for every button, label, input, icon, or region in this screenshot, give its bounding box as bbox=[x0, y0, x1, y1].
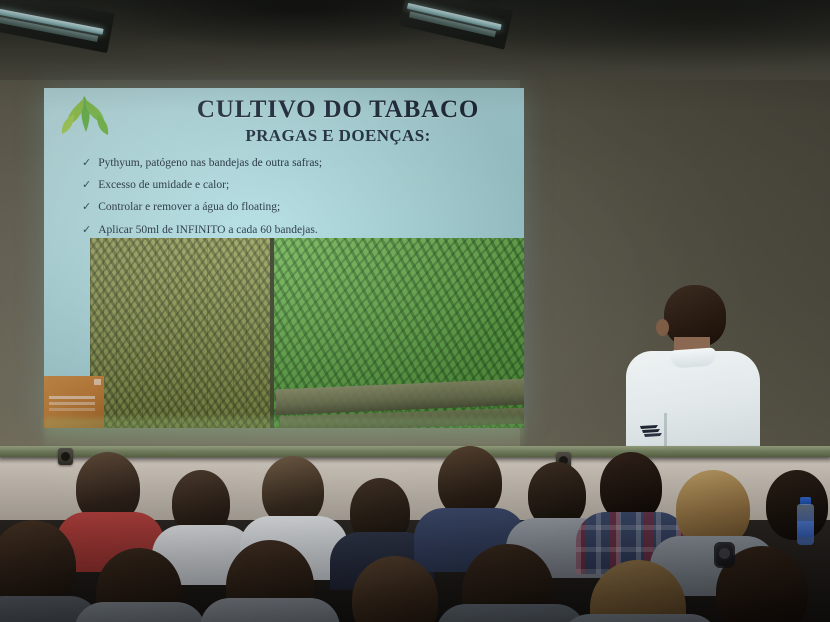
student-body bbox=[74, 602, 206, 622]
student-body bbox=[436, 604, 586, 622]
water-bottle bbox=[797, 497, 814, 545]
bottle-label bbox=[797, 521, 814, 537]
photo-shadow-patch bbox=[522, 298, 524, 324]
projected-slide: CULTIVO DO TABACO PRAGAS E DOENÇAS: ✓ Py… bbox=[44, 88, 524, 428]
student-body bbox=[560, 614, 720, 622]
photo-divider bbox=[270, 238, 274, 428]
student-body bbox=[200, 598, 340, 622]
wristwatch bbox=[716, 544, 733, 566]
seedling-tray-diseased-photo bbox=[90, 238, 272, 428]
slide-subtitle: PRAGAS E DOENÇAS: bbox=[164, 126, 512, 146]
slide-photo-pair bbox=[90, 238, 524, 428]
slide-bullet-list: ✓ Pythyum, patógeno nas bandejas de outr… bbox=[82, 157, 502, 246]
company-logo-icon bbox=[638, 423, 664, 437]
slide-bullet-text: Aplicar 50ml de INFINITO a cada 60 bande… bbox=[98, 224, 318, 237]
slide-bullet: ✓ Controlar e remover a água do floating… bbox=[82, 201, 502, 214]
slide-bullet: ✓ Pythyum, patógeno nas bandejas de outr… bbox=[82, 157, 502, 170]
classroom-photo: CULTIVO DO TABACO PRAGAS E DOENÇAS: ✓ Py… bbox=[0, 0, 830, 622]
slide-bullet-text: Controlar e remover a água do floating; bbox=[98, 201, 280, 214]
slide-bullet: ✓ Aplicar 50ml de INFINITO a cada 60 ban… bbox=[82, 224, 502, 237]
slide-title: CULTIVO DO TABACO bbox=[164, 96, 512, 124]
checkmark-icon: ✓ bbox=[82, 201, 91, 213]
checkmark-icon: ✓ bbox=[82, 179, 91, 191]
slide-bullet-text: Pythyum, patógeno nas bandejas de outra … bbox=[98, 157, 322, 170]
presenter-ear bbox=[656, 319, 669, 336]
thumbnail-badge bbox=[94, 379, 101, 385]
checkmark-icon: ✓ bbox=[82, 157, 91, 169]
thumbnail-text-lines bbox=[49, 396, 95, 399]
wall-ledge-rail bbox=[0, 446, 830, 457]
next-slide-thumbnail bbox=[44, 376, 104, 428]
tobacco-leaf-icon bbox=[54, 92, 116, 140]
slide-bullet: ✓ Excesso de umidade e calor; bbox=[82, 179, 502, 192]
slide-bullet-text: Excesso de umidade e calor; bbox=[98, 179, 229, 192]
checkmark-icon: ✓ bbox=[82, 224, 91, 236]
wall-mount-bracket bbox=[58, 448, 73, 465]
